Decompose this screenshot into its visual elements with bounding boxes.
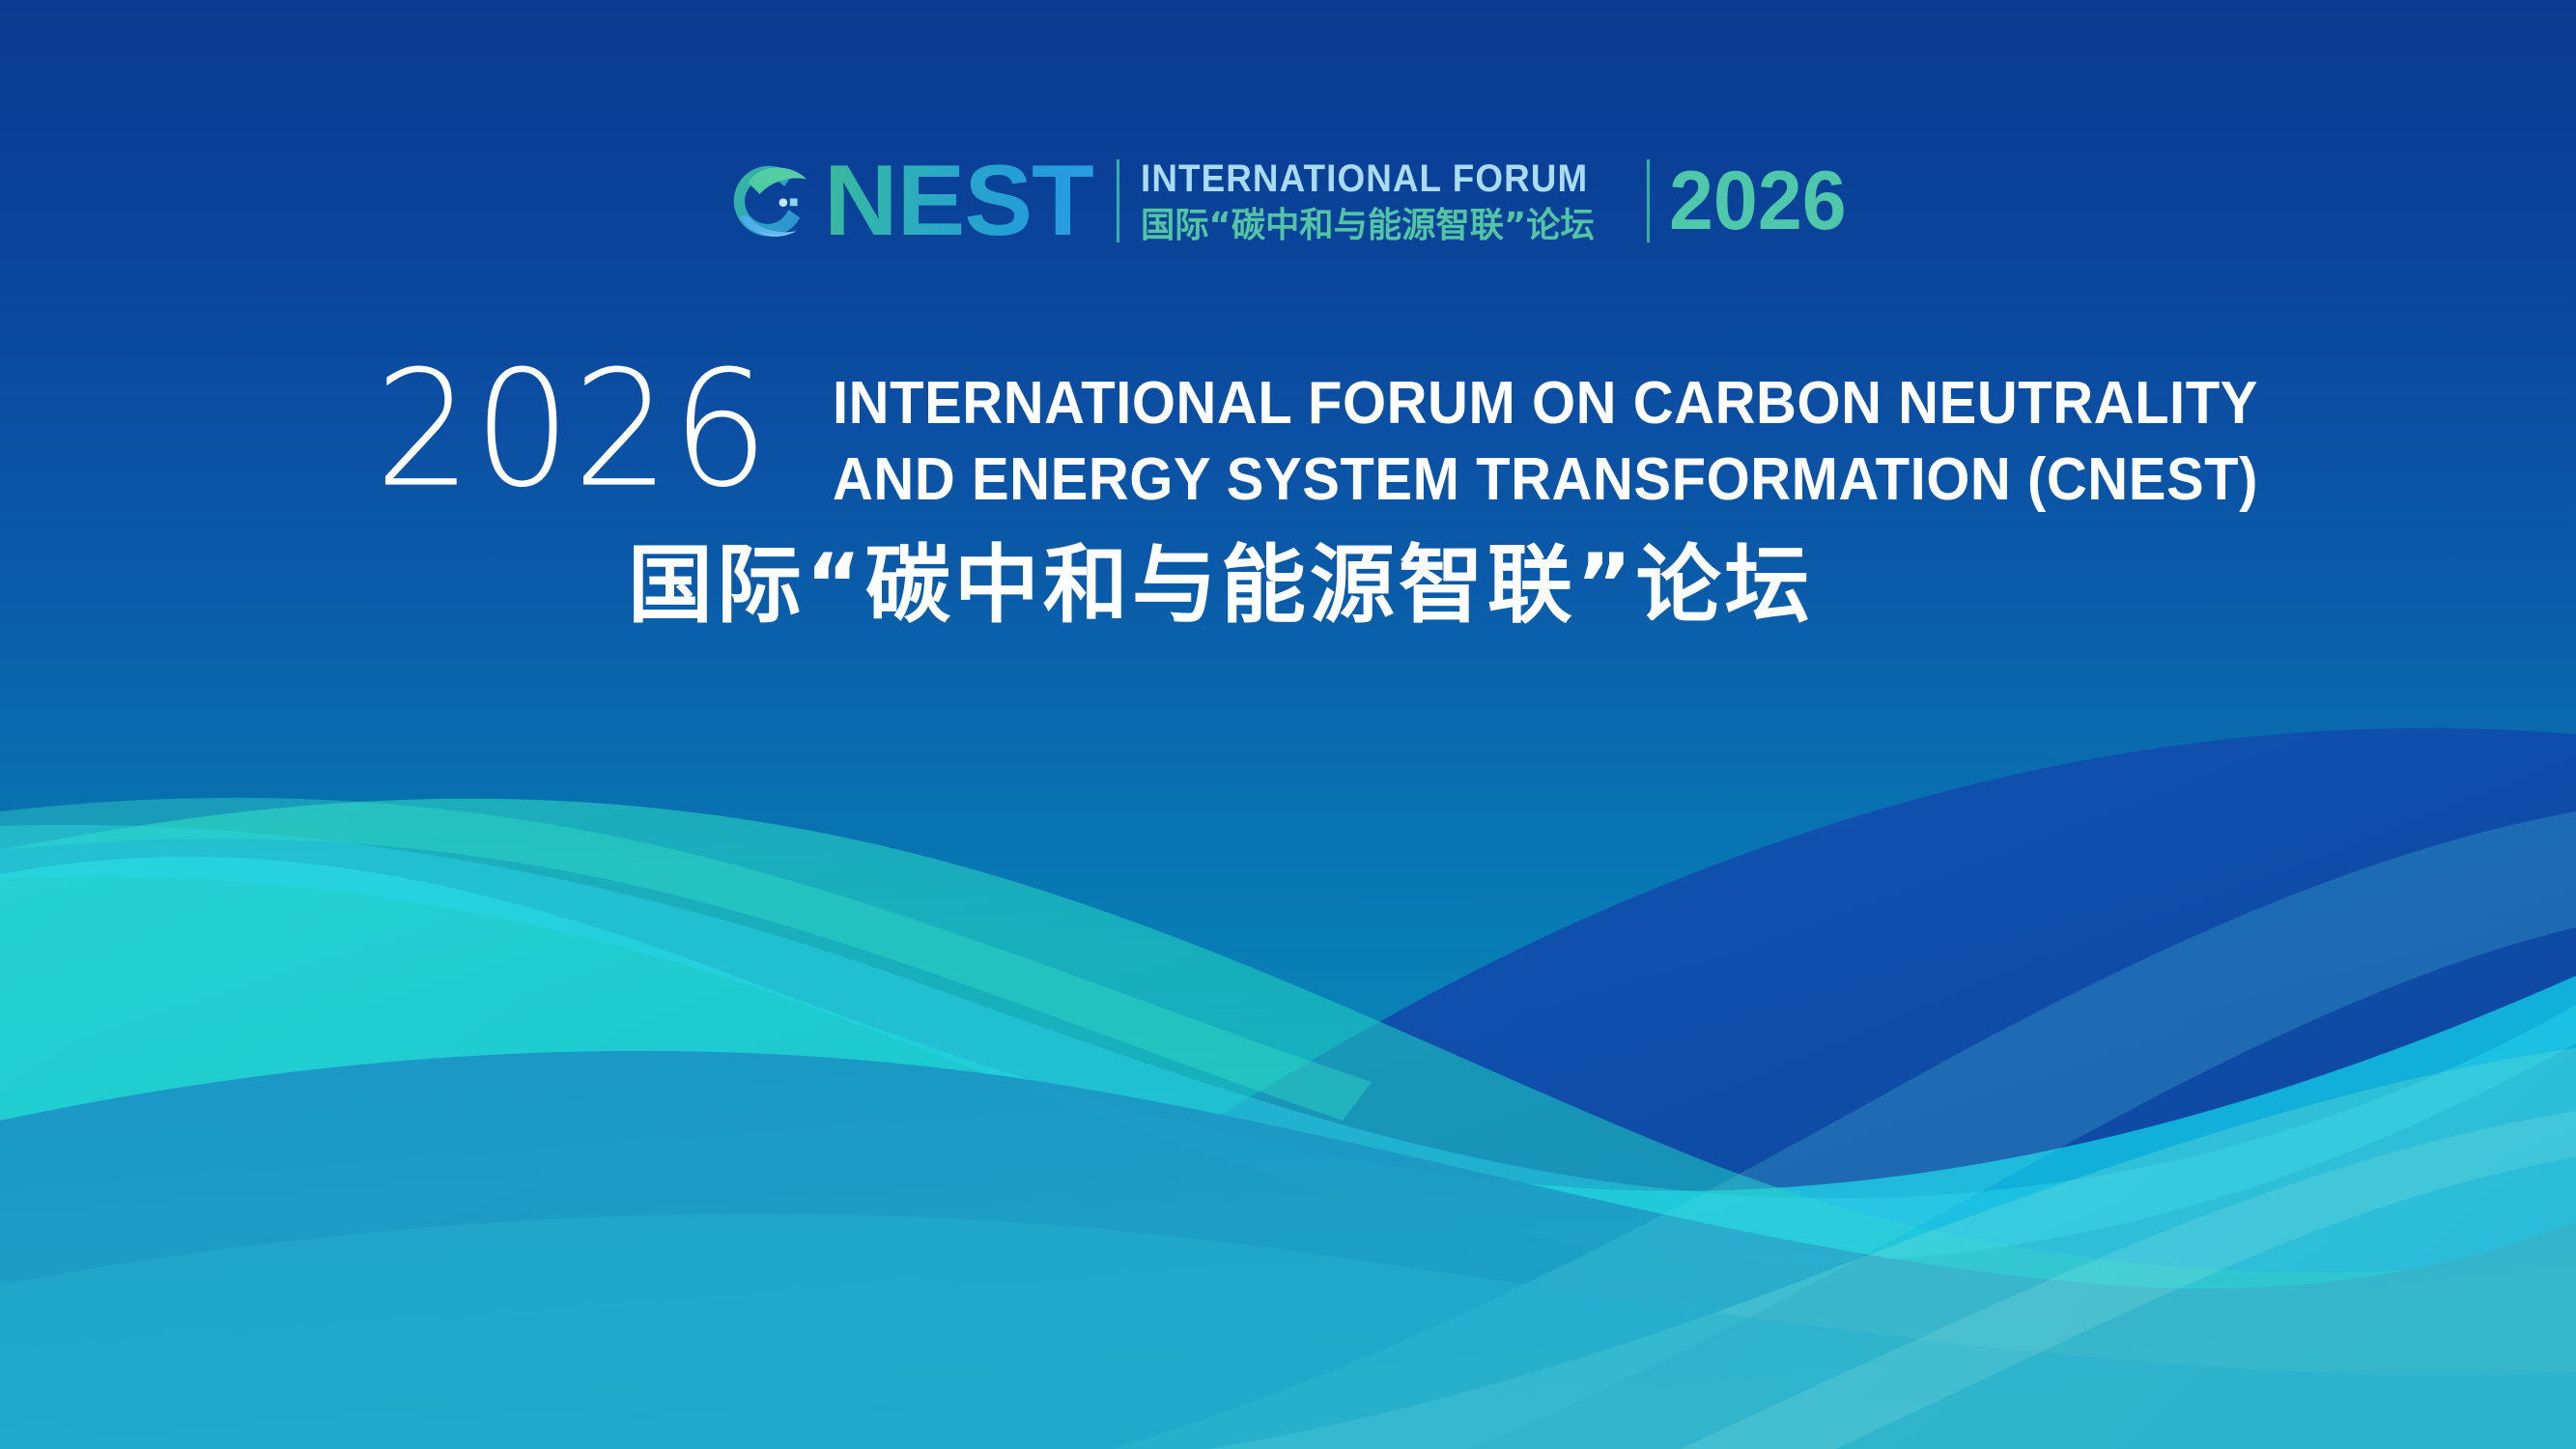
logo-wordmark: NEST: [824, 151, 1099, 251]
headline-chinese-title: 国际“碳中和与能源智联”论坛: [628, 543, 1814, 628]
headline-line-1: INTERNATIONAL FORUM ON CARBON NEUTRALITY: [833, 365, 2258, 441]
logo-divider-1: [1117, 159, 1119, 242]
logo-forum-en: INTERNATIONAL FORUM: [1141, 159, 1588, 198]
headline-year: 2026: [375, 350, 771, 510]
headline-title-block: INTERNATIONAL FORUM ON CARBON NEUTRALITY…: [833, 365, 2358, 519]
cnest-circular-leaf-mark: [720, 151, 820, 251]
logo-forum-cn: 国际“碳中和与能源智联”论坛: [1141, 209, 1617, 243]
logo-forum-block: INTERNATIONAL FORUM 国际“碳中和与能源智联”论坛: [1141, 155, 1628, 247]
cnest-logo-lockup: NEST INTERNATIONAL FORUM 国际“碳中和与能源智联”论坛 …: [720, 143, 1854, 259]
logo-divider-2: [1647, 159, 1650, 242]
event-poster: NEST INTERNATIONAL FORUM 国际“碳中和与能源智联”论坛 …: [0, 0, 2576, 1449]
logo-year: 2026: [1669, 159, 1847, 242]
headline-line-2: AND ENERGY SYSTEM TRANSFORMATION (CNEST): [833, 441, 2258, 518]
